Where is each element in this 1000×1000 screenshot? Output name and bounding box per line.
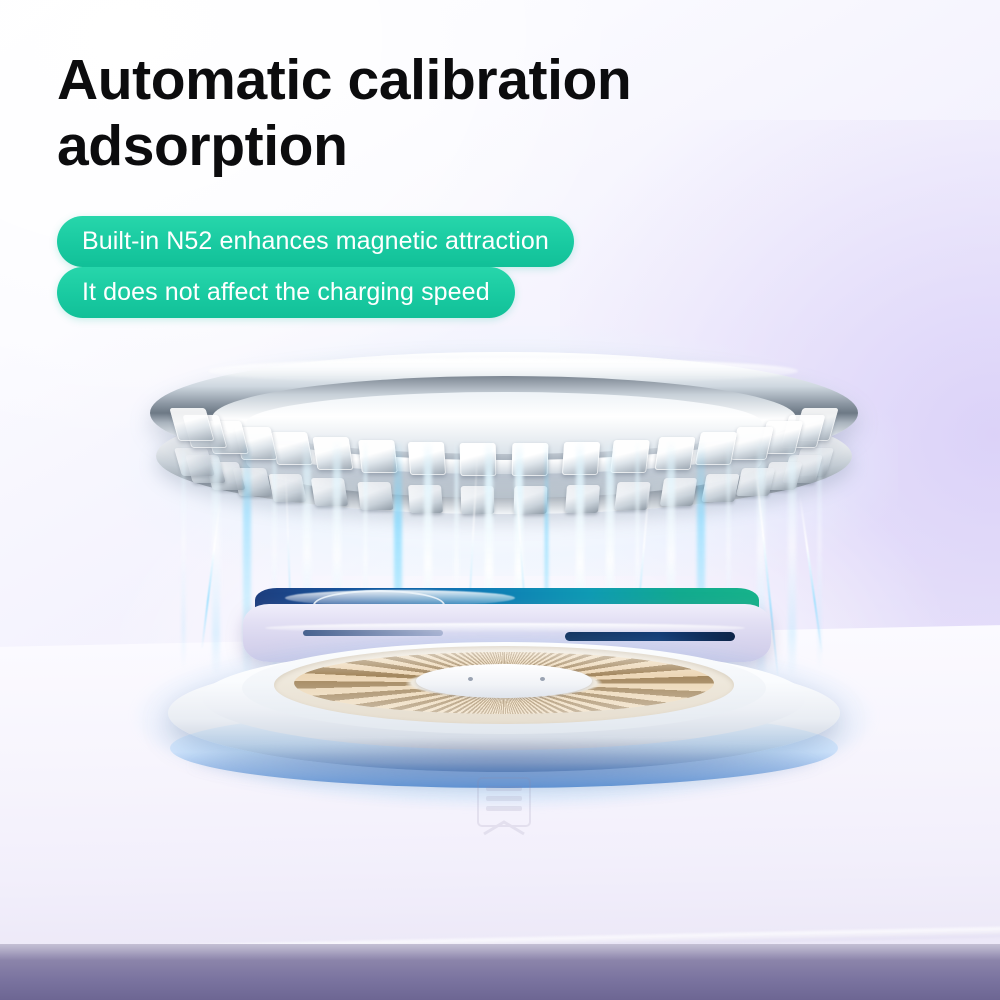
product-banner: Automatic calibration adsorption Built-i…	[0, 0, 1000, 1000]
feature-badge-list: Built-in N52 enhances magnetic attractio…	[57, 216, 574, 318]
feature-badge-row-1: Built-in N52 enhances magnetic attractio…	[57, 216, 574, 267]
coil-hub-dot-left	[468, 677, 473, 681]
magnet-segment	[169, 408, 214, 441]
page-title: Automatic calibration adsorption	[57, 47, 877, 179]
feature-badge-charging-speed: It does not affect the charging speed	[57, 267, 515, 318]
coil-hub-dot-right	[540, 677, 545, 681]
page-title-line-1: Automatic calibration	[57, 47, 877, 113]
brand-watermark-icon	[474, 772, 534, 844]
wireless-charger-base	[168, 640, 840, 772]
light-beam	[182, 440, 185, 670]
feature-badge-row-2: It does not affect the charging speed	[57, 267, 574, 318]
charging-coil-hub	[416, 664, 592, 698]
feature-badge-magnetic-attraction: Built-in N52 enhances magnetic attractio…	[57, 216, 574, 267]
page-title-line-2: adsorption	[57, 113, 877, 179]
table-front-sheen	[0, 944, 1000, 960]
